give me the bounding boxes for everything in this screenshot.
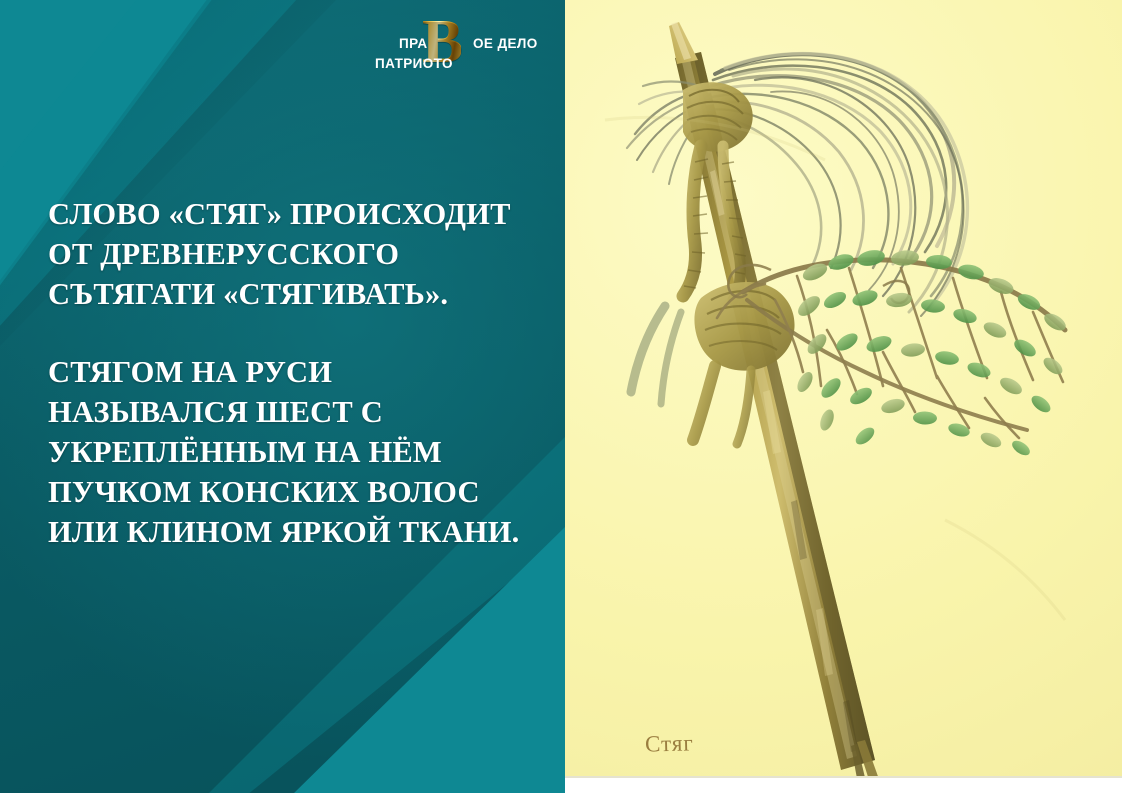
logo-line1-before: ПРА [399,36,427,51]
slide: В ПРА ОЕ ДЕЛО ПАТРИОТО СЛОВО «СТЯГ» ПРОИ… [0,0,1122,793]
logo: В ПРА ОЕ ДЕЛО ПАТРИОТО [375,14,553,82]
illustration-panel [565,0,1122,793]
paragraph-origin: СЛОВО «СТЯГ» ПРОИСХОДИТ ОТ ДРЕВНЕРУССКОГ… [48,194,538,314]
illustration-caption: Стяг [645,730,694,757]
left-content-panel: В ПРА ОЕ ДЕЛО ПАТРИОТО СЛОВО «СТЯГ» ПРОИ… [0,0,565,793]
paragraph-definition: СТЯГОМ НА РУСИ НАЗЫВАЛСЯ ШЕСТ С УКРЕПЛЁН… [48,352,538,552]
styag-illustration [565,0,1122,793]
logo-line2: ПАТРИОТО [375,56,453,71]
paper-bottom-edge [565,776,1122,793]
body-copy: СЛОВО «СТЯГ» ПРОИСХОДИТ ОТ ДРЕВНЕРУССКОГ… [48,194,538,552]
paragraph-spacer [48,314,538,352]
logo-line1-after: ОЕ ДЕЛО [473,36,538,51]
